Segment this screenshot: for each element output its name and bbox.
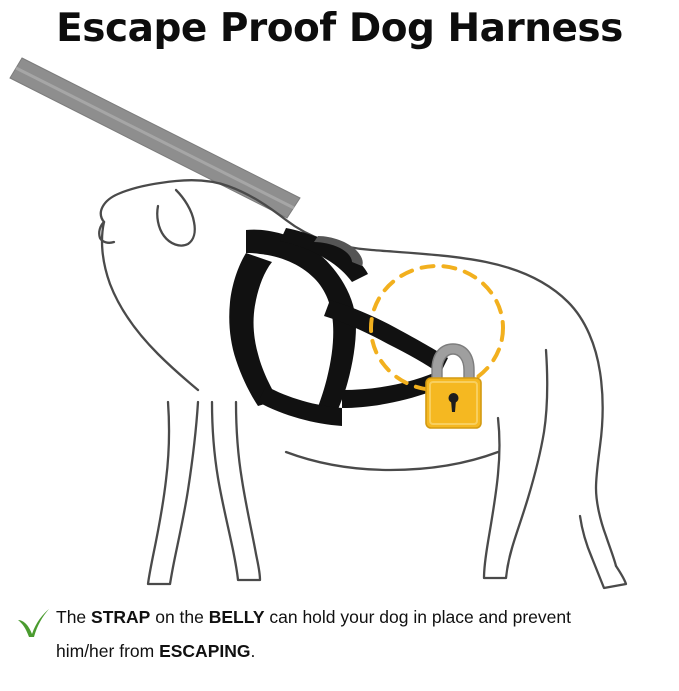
caption-line1-part1: The	[56, 607, 91, 627]
caption-bold-escaping: ESCAPING	[159, 641, 250, 661]
dog-outline	[99, 180, 626, 588]
dog-harness-illustration	[0, 50, 679, 595]
caption-bold-strap: STRAP	[91, 607, 150, 627]
green-check-icon	[16, 600, 56, 643]
product-feature-card: Escape Proof Dog Harness	[0, 0, 679, 691]
caption-block: The STRAP on the BELLY can hold your dog…	[0, 600, 679, 668]
caption-line1-part2: on the	[150, 607, 208, 627]
caption-text: The STRAP on the BELLY can hold your dog…	[56, 600, 663, 668]
harness-straps	[229, 228, 448, 426]
caption-line1-part3: can hold your dog in place and prevent	[265, 607, 571, 627]
page-title: Escape Proof Dog Harness	[0, 6, 679, 51]
caption-line2-part2: .	[250, 641, 255, 661]
caption-line2-part1: him/her from	[56, 641, 159, 661]
caption-bold-belly: BELLY	[209, 607, 265, 627]
leash-icon	[10, 58, 300, 218]
padlock-icon	[426, 344, 481, 428]
